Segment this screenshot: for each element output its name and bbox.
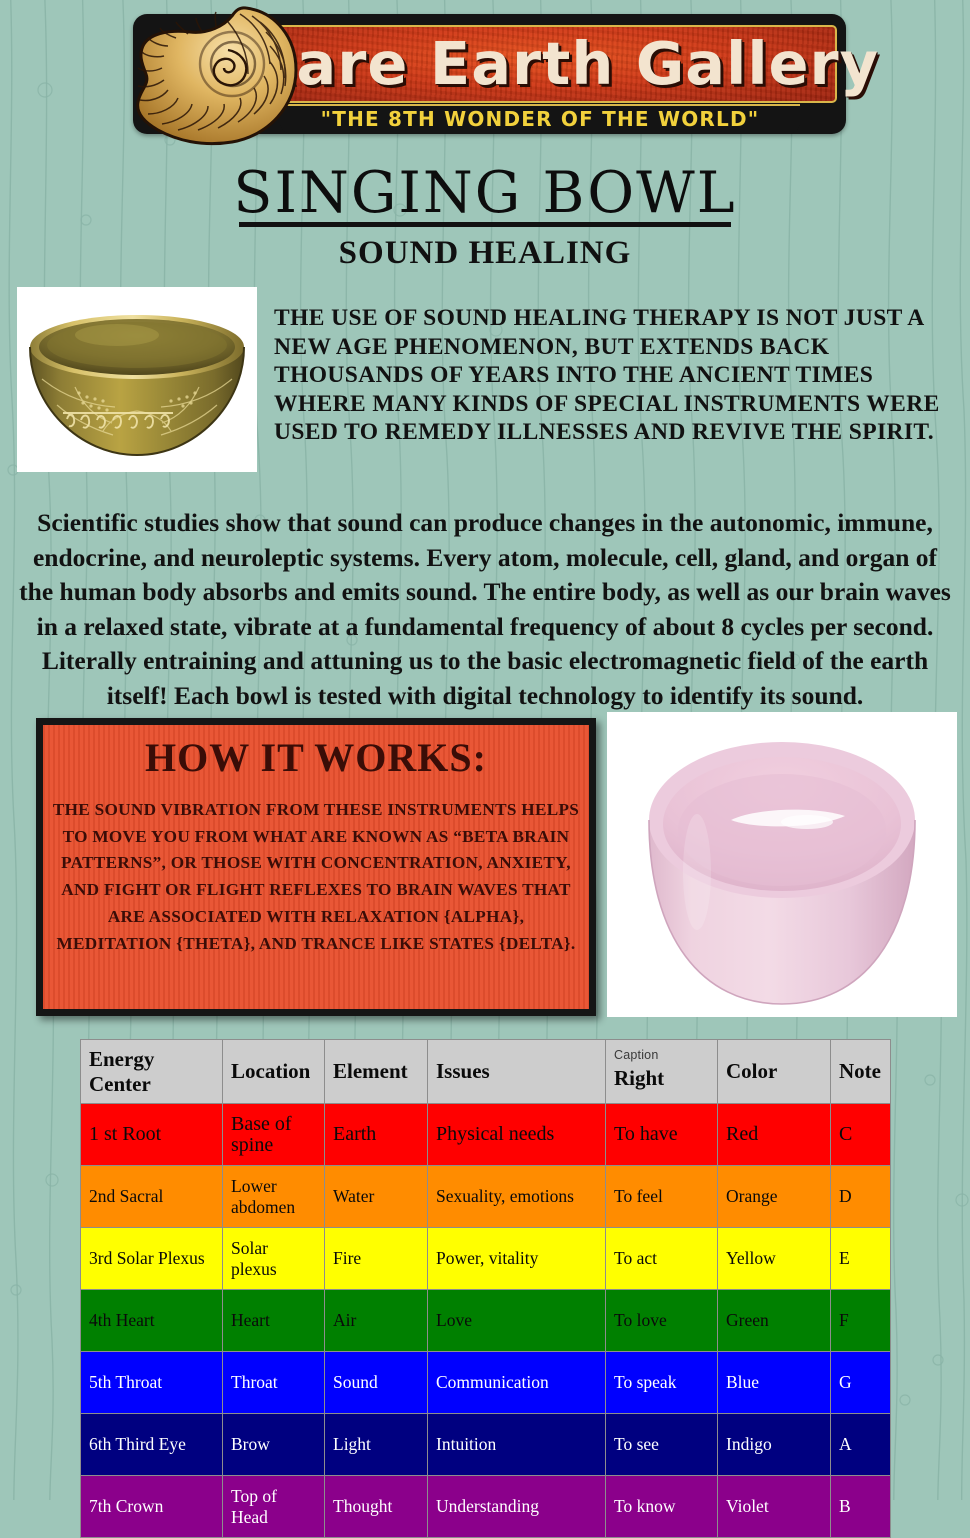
cell-issues: Communication [428, 1352, 606, 1414]
cell-color: Yellow [718, 1228, 831, 1290]
cell-issues: Power, vitality [428, 1228, 606, 1290]
cell-issues: Intuition [428, 1414, 606, 1476]
cell-element: Earth [325, 1104, 428, 1166]
cell-color: Red [718, 1104, 831, 1166]
table-row: 7th CrownTop of HeadThoughtUnderstanding… [81, 1476, 891, 1538]
cell-element: Thought [325, 1476, 428, 1538]
cell-note: D [831, 1166, 891, 1228]
cell-color: Violet [718, 1476, 831, 1538]
table-row: 3rd Solar PlexusSolar plexusFirePower, v… [81, 1228, 891, 1290]
column-header-location: Location [223, 1040, 325, 1104]
column-header-element: Element [325, 1040, 428, 1104]
brass-singing-bowl-photo [17, 287, 257, 472]
cell-issues: Sexuality, emotions [428, 1166, 606, 1228]
hdr-text: Location [231, 1059, 310, 1083]
cell-color: Orange [718, 1166, 831, 1228]
cell-note: C [831, 1104, 891, 1166]
cell-element: Fire [325, 1228, 428, 1290]
hdr-text: Color [726, 1059, 777, 1083]
how-it-works-box: HOW IT WORKS: THE SOUND VIBRATION FROM T… [36, 718, 596, 1016]
cell-element: Air [325, 1290, 428, 1352]
column-header-issues: Issues [428, 1040, 606, 1104]
cell-note: E [831, 1228, 891, 1290]
cell-issues: Love [428, 1290, 606, 1352]
cell-location: Solar plexus [223, 1228, 325, 1290]
cell-issues: Physical needs [428, 1104, 606, 1166]
cell-energy-center: 4th Heart [81, 1290, 223, 1352]
brand-logo-banner: Rare Earth Gallery "THE 8TH WONDER OF TH… [0, 0, 970, 150]
caption-label: Caption [614, 1043, 659, 1068]
cell-location: Base of spine [223, 1104, 325, 1166]
table-row: 1 st RootBase of spineEarthPhysical need… [81, 1104, 891, 1166]
column-header-note: Note [831, 1040, 891, 1104]
ammonite-shell-icon [128, 2, 308, 148]
brand-tagline: "THE 8TH WONDER OF THE WORLD" [280, 105, 800, 133]
cell-element: Water [325, 1166, 428, 1228]
cell-right: To feel [606, 1166, 718, 1228]
cell-energy-center: 7th Crown [81, 1476, 223, 1538]
cell-right: To see [606, 1414, 718, 1476]
title-underline [239, 222, 731, 227]
cell-right: To act [606, 1228, 718, 1290]
cell-note: A [831, 1414, 891, 1476]
chakra-table-container: Energy Center Location Element Issues Ca… [80, 1039, 890, 1500]
poster-page: Rare Earth Gallery "THE 8TH WONDER OF TH… [0, 0, 970, 1500]
cell-location: Lower abdomen [223, 1166, 325, 1228]
brand-name: Rare Earth Gallery [250, 27, 830, 101]
cell-color: Blue [718, 1352, 831, 1414]
cell-right: To know [606, 1476, 718, 1538]
how-it-works-title: HOW IT WORKS: [43, 734, 589, 781]
table-row: 2nd SacralLower abdomenWaterSexuality, e… [81, 1166, 891, 1228]
cell-energy-center: 5th Throat [81, 1352, 223, 1414]
column-header-energy-center: Energy Center [81, 1040, 223, 1104]
hdr-text: Right [614, 1066, 709, 1091]
cell-location: Brow [223, 1414, 325, 1476]
cell-energy-center: 6th Third Eye [81, 1414, 223, 1476]
cell-energy-center: 3rd Solar Plexus [81, 1228, 223, 1290]
hdr-text: Issues [436, 1059, 490, 1083]
cell-energy-center: 2nd Sacral [81, 1166, 223, 1228]
chakra-table: Energy Center Location Element Issues Ca… [80, 1039, 891, 1538]
cell-note: F [831, 1290, 891, 1352]
table-row: 5th ThroatThroatSoundCommunicationTo spe… [81, 1352, 891, 1414]
cell-location: Throat [223, 1352, 325, 1414]
hdr-text: Element [333, 1059, 408, 1083]
cell-right: To speak [606, 1352, 718, 1414]
page-subtitle: SOUND HEALING [0, 235, 970, 272]
science-paragraph: Scientific studies show that sound can p… [14, 506, 956, 714]
how-it-works-body: THE SOUND VIBRATION FROM THESE INSTRUMEN… [43, 797, 589, 957]
cell-note: B [831, 1476, 891, 1538]
hdr-text: Note [839, 1059, 881, 1083]
table-row: 4th HeartHeartAirLoveTo loveGreenF [81, 1290, 891, 1352]
column-header-color: Color [718, 1040, 831, 1104]
cell-location: Top of Head [223, 1476, 325, 1538]
page-title: SINGING BOWL [0, 160, 970, 226]
cell-note: G [831, 1352, 891, 1414]
cell-color: Green [718, 1290, 831, 1352]
table-body: 1 st RootBase of spineEarthPhysical need… [81, 1104, 891, 1538]
cell-element: Light [325, 1414, 428, 1476]
cell-right: To love [606, 1290, 718, 1352]
cell-issues: Understanding [428, 1476, 606, 1538]
cell-energy-center: 1 st Root [81, 1104, 223, 1166]
column-header-right: Caption Right [606, 1040, 718, 1104]
hdr-text: Energy Center [89, 1047, 154, 1096]
table-row: 6th Third EyeBrowLightIntuitionTo seeInd… [81, 1414, 891, 1476]
pink-crystal-singing-bowl-photo [607, 712, 957, 1017]
table-header-row: Energy Center Location Element Issues Ca… [81, 1040, 891, 1104]
cell-color: Indigo [718, 1414, 831, 1476]
cell-right: To have [606, 1104, 718, 1166]
intro-paragraph: THE USE OF SOUND HEALING THERAPY IS NOT … [274, 304, 964, 447]
cell-location: Heart [223, 1290, 325, 1352]
cell-element: Sound [325, 1352, 428, 1414]
